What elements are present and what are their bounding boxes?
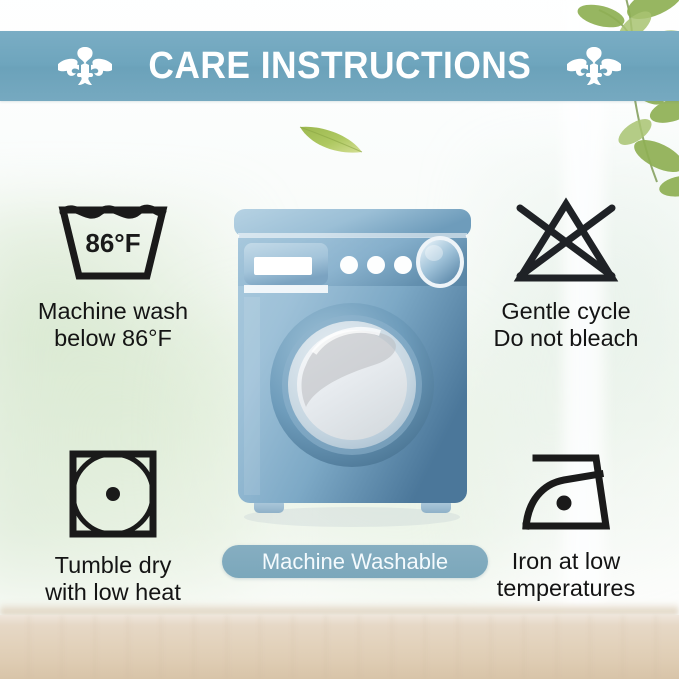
fleur-de-lis-left-icon	[58, 43, 112, 89]
machine-washable-badge: Machine Washable	[222, 545, 488, 578]
table-wood-grain	[0, 615, 679, 679]
machine-top-lid	[234, 209, 471, 237]
care-label-tumble-dry: Tumble dry with low heat	[45, 552, 181, 607]
machine-button-3	[394, 256, 412, 274]
care-instructions-poster: CARE INSTRUCTIONS 86°F Machine wash belo…	[0, 0, 679, 679]
care-item-machine-wash: 86°F Machine wash below 86°F	[8, 196, 218, 353]
machine-dial	[420, 240, 460, 284]
machine-washable-badge-label: Machine Washable	[262, 549, 448, 575]
fleur-de-lis-right-icon	[567, 43, 621, 89]
care-label-iron: Iron at low temperatures	[497, 548, 635, 603]
page-title: CARE INSTRUCTIONS	[148, 45, 531, 88]
care-item-gentle-cycle-no-bleach: Gentle cycle Do not bleach	[461, 196, 671, 353]
wash-temperature-value: 86°F	[85, 228, 140, 258]
wash-tub-icon: 86°F	[55, 196, 171, 288]
machine-drawer-slot	[254, 257, 312, 275]
iron-icon	[508, 446, 624, 538]
care-item-iron: Iron at low temperatures	[461, 446, 671, 603]
machine-button-2	[367, 256, 385, 274]
care-item-tumble-dry: Tumble dry with low heat	[8, 446, 218, 607]
triangle-crossed-icon	[508, 196, 624, 288]
floating-leaf-icon	[296, 119, 366, 159]
care-label-gentle-cycle-no-bleach: Gentle cycle Do not bleach	[493, 298, 638, 353]
care-label-machine-wash: Machine wash below 86°F	[38, 298, 188, 353]
tumble-dry-icon	[63, 446, 163, 542]
header-banner: CARE INSTRUCTIONS	[0, 31, 679, 101]
washing-machine-illustration	[228, 207, 477, 532]
machine-button-1	[340, 256, 358, 274]
